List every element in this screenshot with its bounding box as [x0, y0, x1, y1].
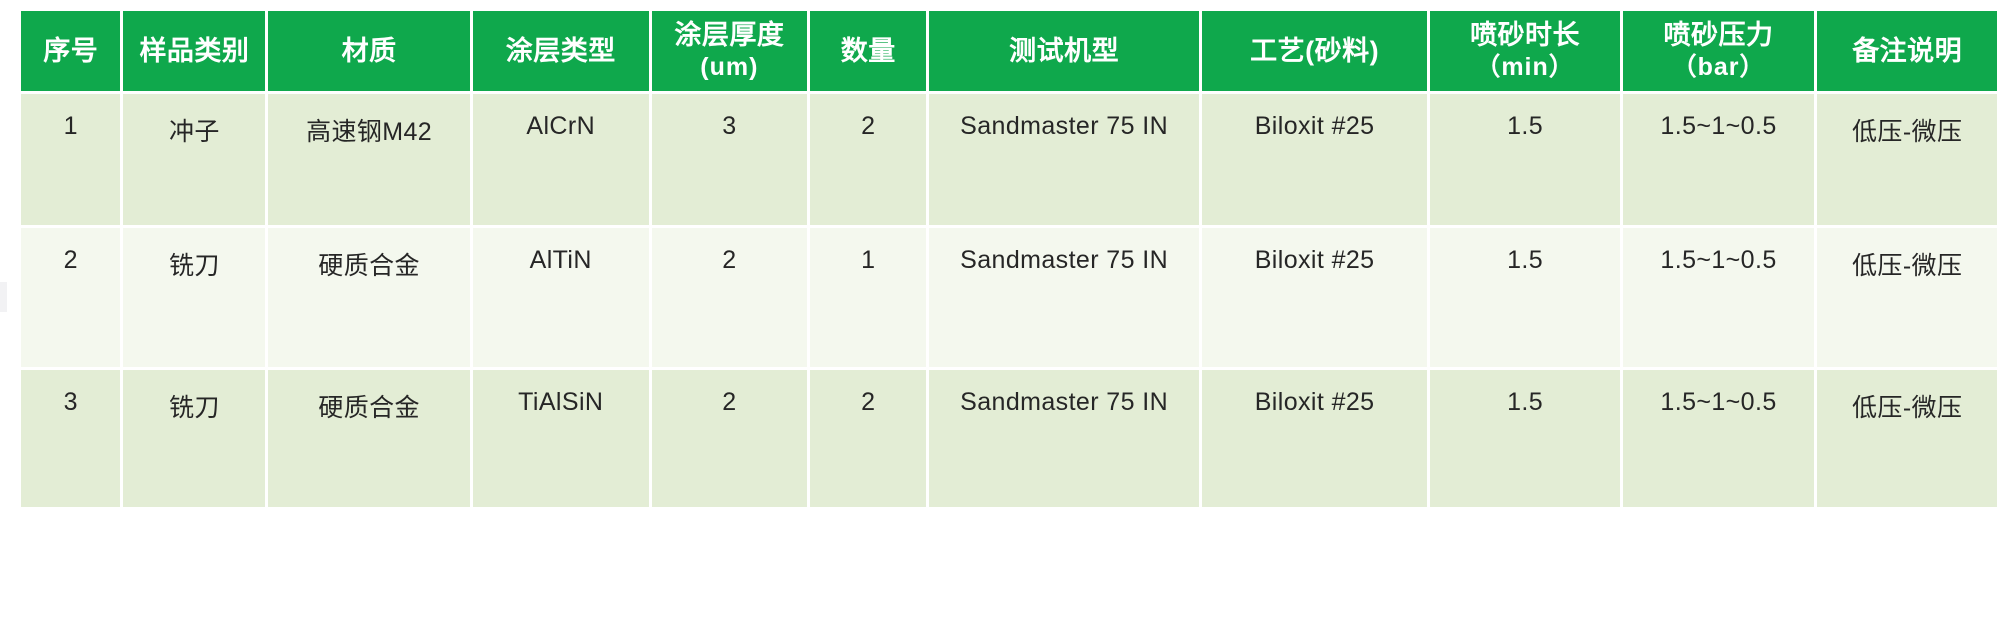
column-header-blast-time-unit: （min） — [1432, 52, 1617, 83]
column-header-index: 序号 — [21, 11, 120, 91]
column-header-quantity-label: 数量 — [841, 36, 896, 66]
table-header: 序号 样品类别 材质 涂层类型 涂层厚度 (um) 数量 — [21, 11, 1997, 91]
cell-quantity: 2 — [810, 370, 926, 507]
cell-coating-type: AlCrN — [473, 94, 649, 225]
table-row: 1 冲子 高速钢M42 AlCrN 3 2 Sandmaster 75 IN B… — [21, 94, 1997, 225]
table-row: 2 铣刀 硬质合金 AlTiN 2 1 Sandmaster 75 IN Bil… — [21, 228, 1997, 367]
column-header-blast-time: 喷砂时长 （min） — [1430, 11, 1619, 91]
cell-material: 硬质合金 — [268, 370, 469, 507]
cell-quantity: 1 — [810, 228, 926, 367]
column-header-process-media: 工艺(砂料) — [1202, 11, 1428, 91]
cell-material: 高速钢M42 — [268, 94, 469, 225]
cell-process-media: Biloxit #25 — [1202, 228, 1428, 367]
cell-index: 1 — [21, 94, 120, 225]
cell-blast-time: 1.5 — [1430, 94, 1619, 225]
column-header-test-machine-label: 测试机型 — [1009, 36, 1119, 66]
cell-blast-pressure: 1.5~1~0.5 — [1623, 370, 1815, 507]
column-header-remark-label: 备注说明 — [1852, 36, 1962, 66]
column-header-coating-type: 涂层类型 — [473, 11, 649, 91]
cell-remark: 低压-微压 — [1817, 94, 1997, 225]
cell-material: 硬质合金 — [268, 228, 469, 367]
sandblasting-spec-table: 序号 样品类别 材质 涂层类型 涂层厚度 (um) 数量 — [18, 8, 2000, 510]
column-header-blast-pressure: 喷砂压力 （bar） — [1623, 11, 1815, 91]
table-body: 1 冲子 高速钢M42 AlCrN 3 2 Sandmaster 75 IN B… — [21, 94, 1997, 507]
column-header-sample-type: 样品类别 — [123, 11, 265, 91]
edge-artifact — [0, 282, 7, 312]
column-header-sample-type-label: 样品类别 — [139, 36, 249, 66]
cell-process-media: Biloxit #25 — [1202, 370, 1428, 507]
cell-sample-type: 冲子 — [123, 94, 265, 225]
column-header-quantity: 数量 — [810, 11, 926, 91]
spec-table-container: 序号 样品类别 材质 涂层类型 涂层厚度 (um) 数量 — [18, 8, 2000, 510]
column-header-coating-type-label: 涂层类型 — [506, 36, 616, 66]
cell-coating-type: TiAlSiN — [473, 370, 649, 507]
cell-quantity: 2 — [810, 94, 926, 225]
column-header-coating-thickness-label: 涂层厚度 — [674, 20, 784, 50]
cell-blast-pressure: 1.5~1~0.5 — [1623, 94, 1815, 225]
column-header-blast-time-label: 喷砂时长 — [1470, 20, 1580, 50]
cell-coating-thickness: 2 — [652, 228, 807, 367]
column-header-process-media-label: 工艺(砂料) — [1250, 36, 1379, 66]
cell-sample-type: 铣刀 — [123, 370, 265, 507]
cell-test-machine: Sandmaster 75 IN — [929, 94, 1198, 225]
cell-test-machine: Sandmaster 75 IN — [929, 370, 1198, 507]
column-header-coating-thickness: 涂层厚度 (um) — [652, 11, 807, 91]
header-row: 序号 样品类别 材质 涂层类型 涂层厚度 (um) 数量 — [21, 11, 1997, 91]
column-header-blast-pressure-label: 喷砂压力 — [1664, 20, 1774, 50]
cell-index: 3 — [21, 370, 120, 507]
column-header-blast-pressure-unit: （bar） — [1625, 52, 1813, 83]
cell-coating-type: AlTiN — [473, 228, 649, 367]
cell-coating-thickness: 2 — [652, 370, 807, 507]
cell-index: 2 — [21, 228, 120, 367]
cell-process-media: Biloxit #25 — [1202, 94, 1428, 225]
cell-test-machine: Sandmaster 75 IN — [929, 228, 1198, 367]
table-row: 3 铣刀 硬质合金 TiAlSiN 2 2 Sandmaster 75 IN B… — [21, 370, 1997, 507]
column-header-test-machine: 测试机型 — [929, 11, 1198, 91]
cell-remark: 低压-微压 — [1817, 228, 1997, 367]
column-header-coating-thickness-unit: (um) — [654, 52, 805, 83]
cell-coating-thickness: 3 — [652, 94, 807, 225]
column-header-index-label: 序号 — [43, 36, 98, 66]
cell-remark: 低压-微压 — [1817, 370, 1997, 507]
column-header-material-label: 材质 — [342, 36, 397, 66]
column-header-remark: 备注说明 — [1817, 11, 1997, 91]
cell-blast-pressure: 1.5~1~0.5 — [1623, 228, 1815, 367]
column-header-material: 材质 — [268, 11, 469, 91]
cell-blast-time: 1.5 — [1430, 370, 1619, 507]
cell-sample-type: 铣刀 — [123, 228, 265, 367]
cell-blast-time: 1.5 — [1430, 228, 1619, 367]
